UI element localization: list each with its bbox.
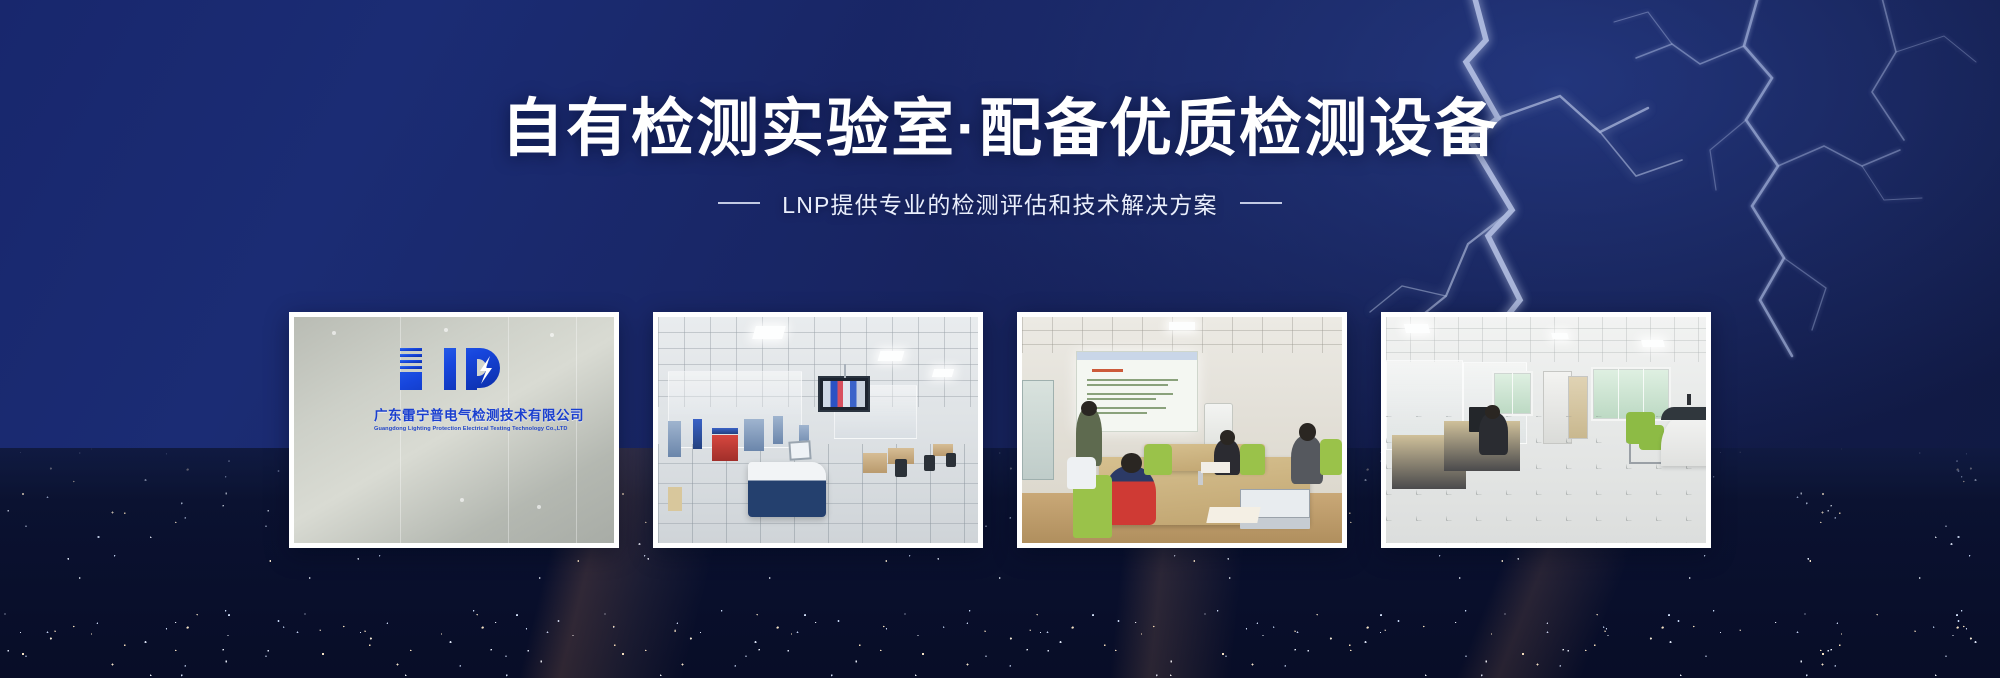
- lnp-logo-group: 广东雷宁普电气检测技术有限公司 Guangdong Lighting Prote…: [374, 338, 534, 432]
- page-title: 自有检测实验室·配备优质检测设备: [0, 96, 2000, 162]
- photo-frame-company-signage[interactable]: 广东雷宁普电气检测技术有限公司 Guangdong Lighting Prote…: [289, 312, 619, 548]
- lnp-logo-icon: [394, 338, 514, 400]
- photo-frame-testing-laboratory[interactable]: [653, 312, 983, 548]
- hero-headline-block: 自有检测实验室·配备优质检测设备 LNP提供专业的检测评估和技术解决方案: [0, 96, 2000, 220]
- hero-banner: 自有检测实验室·配备优质检测设备 LNP提供专业的检测评估和技术解决方案: [0, 0, 2000, 678]
- subtitle-row: LNP提供专业的检测评估和技术解决方案: [0, 186, 2000, 220]
- dash-right-decoration: [1240, 202, 1282, 204]
- photo-office-area: [1386, 317, 1706, 543]
- dash-left-decoration: [718, 202, 760, 204]
- page-subtitle: LNP提供专业的检测评估和技术解决方案: [782, 186, 1218, 220]
- photo-company-signage: 广东雷宁普电气检测技术有限公司 Guangdong Lighting Prote…: [294, 317, 614, 543]
- photo-frame-office-area[interactable]: [1381, 312, 1711, 548]
- photo-training-meeting-room: [1022, 317, 1342, 543]
- photo-testing-laboratory: [658, 317, 978, 543]
- signage-company-name-en: Guangdong Lighting Protection Electrical…: [374, 426, 534, 432]
- signage-company-name-cn: 广东雷宁普电气检测技术有限公司: [374, 404, 534, 424]
- photo-frame-training-meeting-room[interactable]: [1017, 312, 1347, 548]
- photo-gallery-strip: 广东雷宁普电气检测技术有限公司 Guangdong Lighting Prote…: [0, 312, 2000, 548]
